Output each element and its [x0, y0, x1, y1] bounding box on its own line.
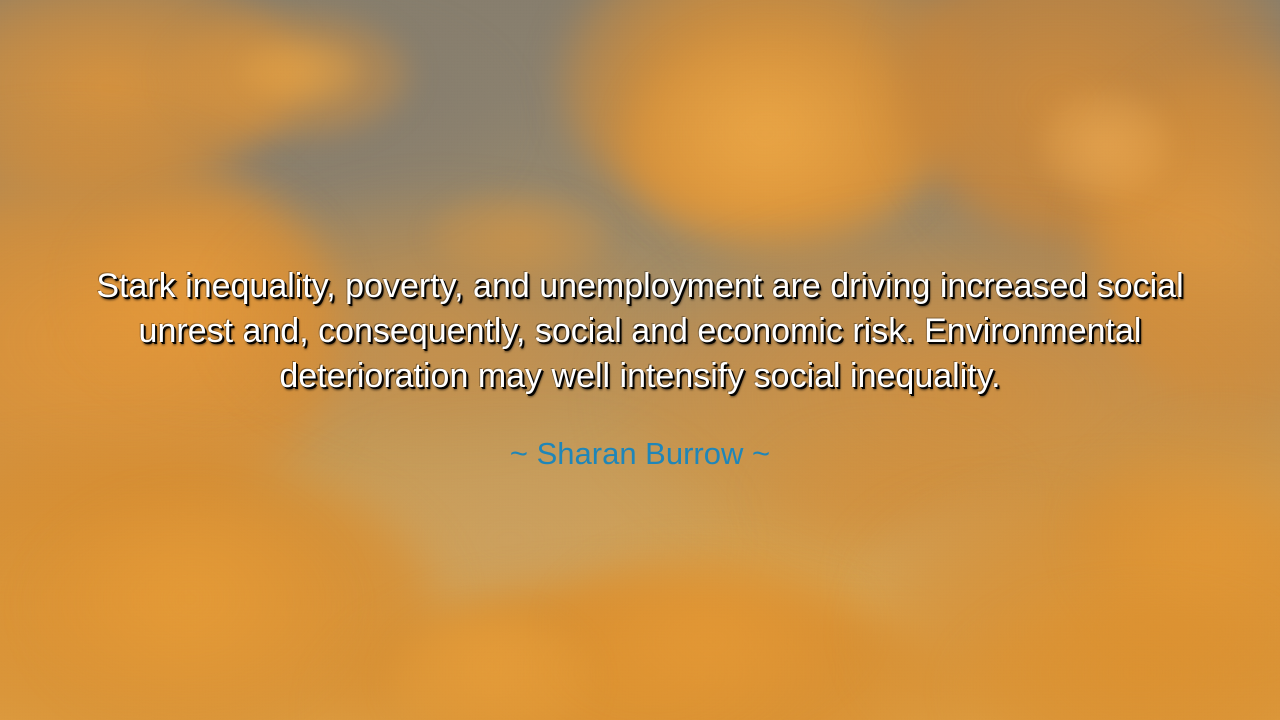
quote-text: Stark inequality, poverty, and unemploym…: [60, 264, 1220, 399]
quote-image-canvas: Stark inequality, poverty, and unemploym…: [0, 0, 1280, 720]
quote-block: Stark inequality, poverty, and unemploym…: [60, 264, 1220, 474]
quote-attribution: ~ Sharan Burrow ~: [60, 399, 1220, 474]
